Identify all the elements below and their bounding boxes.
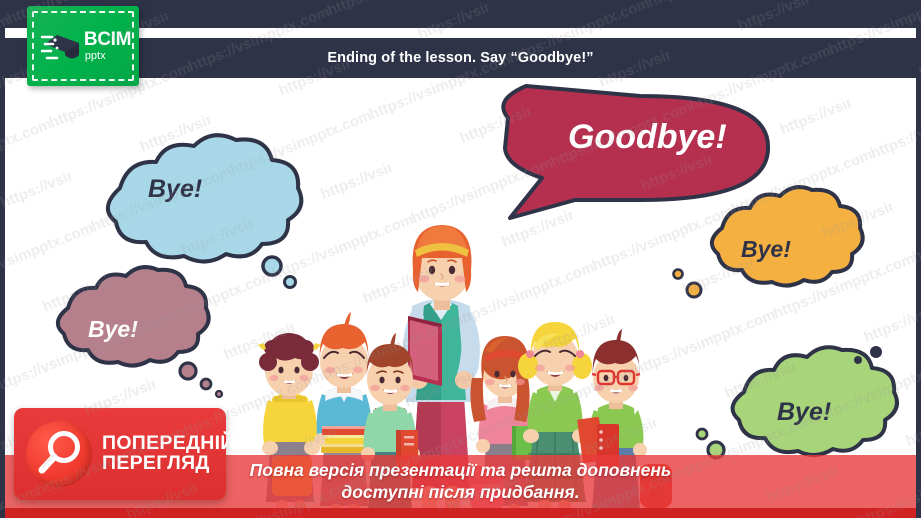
magnifier-icon: [26, 421, 92, 487]
page-title: Ending of the lesson. Say “Goodbye!”: [327, 50, 593, 66]
banner-bottom-strip: [0, 508, 921, 518]
purchase-notice-line2: доступні після придбання.: [341, 482, 579, 503]
teacher-book: [408, 316, 442, 386]
right-chrome-edge: [916, 0, 921, 518]
purchase-notice-line1: Повна версія презентації та решта доповн…: [250, 460, 672, 481]
bubble-bye-blue: [108, 135, 301, 287]
bubble-bye-mauve: [58, 267, 222, 397]
bcim-logo[interactable]: BCIM pptx: [27, 6, 139, 86]
preview-badge: ПОПЕРЕДНІЙ ПЕРЕГЛЯД: [14, 408, 226, 500]
bubble-goodbye-main: [503, 86, 768, 218]
logo-primary-text: BCIM: [84, 30, 131, 49]
logo-secondary-text: pptx: [85, 51, 106, 62]
graduation-cap-icon: [41, 25, 81, 67]
preview-label-line2: ПЕРЕГЛЯД: [102, 454, 235, 474]
presentation-slide: Goodbye! Bye! Bye! Bye! Bye! Повна версі…: [0, 0, 921, 518]
bubble-bye-green: [697, 346, 897, 458]
bubble-bye-orange: [674, 187, 863, 297]
left-chrome-edge: [0, 0, 5, 518]
